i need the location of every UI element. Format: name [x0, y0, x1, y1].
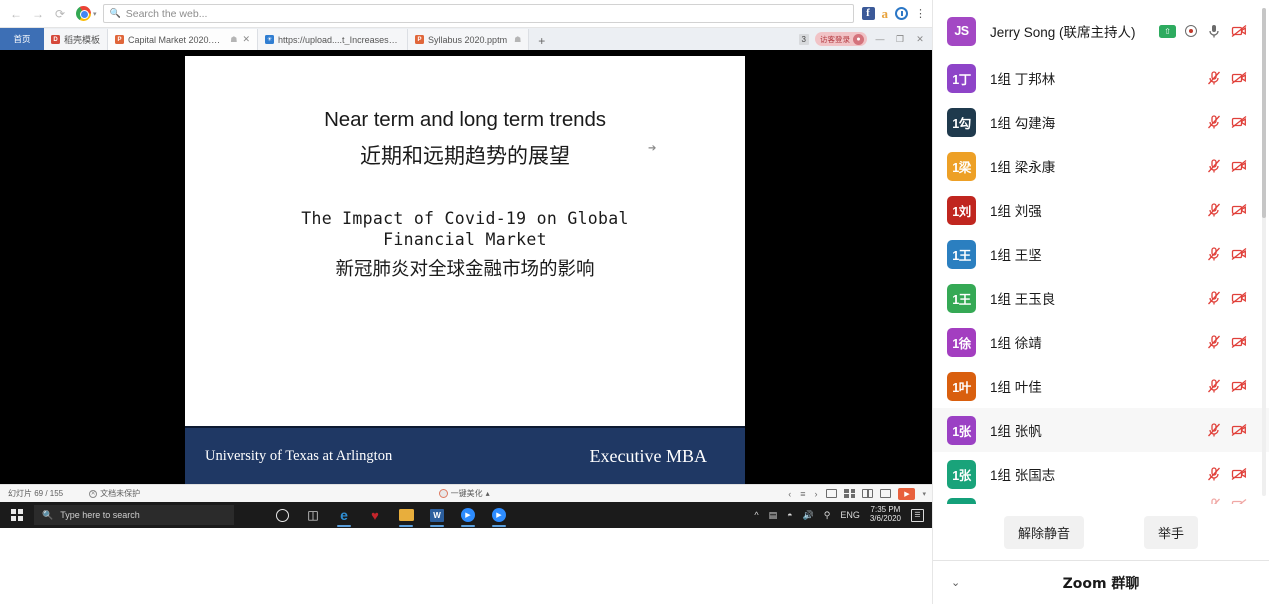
restore-button[interactable]: ❐	[893, 34, 907, 45]
participant-status-icons	[1206, 202, 1247, 218]
video-off-icon[interactable]	[1231, 70, 1247, 86]
language-indicator[interactable]: ENG	[840, 510, 860, 520]
list-item[interactable]: 1梁 1组 梁永康	[933, 144, 1269, 188]
participant-status-icons	[1206, 70, 1247, 86]
avatar: 1刘	[947, 196, 976, 225]
windows-taskbar: 🔍 Type here to search ◫ e ♥ W ▶ ▶ ^ ▤ ◓ …	[0, 502, 932, 528]
avatar: JS	[947, 17, 976, 46]
browser-menu-icon[interactable]: ⋮	[915, 10, 926, 18]
list-item[interactable]: 1刘 1组 刘强	[933, 188, 1269, 232]
mic-off-icon[interactable]	[1206, 378, 1222, 394]
list-item[interactable]: 1张 1组 张帆	[933, 408, 1269, 452]
list-item[interactable]: JS Jerry Song (联席主持人) ⇧	[933, 6, 1269, 56]
history-clock-icon[interactable]	[895, 7, 908, 20]
participant-name: 1组 叶佳	[990, 376, 1200, 396]
forward-arrow-icon[interactable]: →	[28, 4, 48, 24]
slide-subtitle-chinese: 新冠肺炎对全球金融市场的影响	[185, 255, 745, 281]
chevron-right-icon[interactable]: ›	[814, 489, 817, 499]
browser-toolbar-actions: f a ⋮	[862, 6, 927, 22]
mic-off-icon[interactable]	[1206, 290, 1222, 306]
record-badge	[1185, 25, 1197, 37]
screenshot-root: ← → ⟳ ▾ 🔍 Search the web... f a ⋮ 首页 D 稻…	[0, 0, 1269, 604]
participants-list[interactable]: JS Jerry Song (联席主持人) ⇧ 1丁 1组 丁邦林	[933, 0, 1269, 504]
participant-status-icons	[1206, 158, 1247, 174]
browser-address-bar[interactable]: 🔍 Search the web...	[103, 4, 854, 23]
list-item[interactable]: 1张 1组 张国志	[933, 452, 1269, 496]
mic-off-icon[interactable]	[1206, 70, 1222, 86]
avatar	[947, 498, 976, 504]
security-shield-icon[interactable]: ♥	[361, 502, 389, 528]
participant-name: 1组 梁永康	[990, 156, 1200, 176]
tab-home[interactable]: 首页	[0, 28, 44, 50]
participant-name: 1组 丁邦林	[990, 68, 1200, 88]
pin-tab-icon[interactable]: ☗	[514, 35, 521, 44]
list-item[interactable]: 1叶 1组 叶佳	[933, 364, 1269, 408]
show-hidden-icons-icon[interactable]: ^	[754, 510, 758, 520]
list-item[interactable]: 1徐 1组 徐靖	[933, 320, 1269, 364]
avatar: 1叶	[947, 372, 976, 401]
zoom-app-icon[interactable]: ▶	[454, 502, 482, 528]
tab-template-store[interactable]: D 稻壳模板	[44, 29, 108, 50]
vertical-scrollbar[interactable]	[1262, 8, 1266, 218]
file-explorer-icon[interactable]	[392, 502, 420, 528]
list-item[interactable]	[933, 496, 1269, 504]
minimize-button[interactable]: —	[873, 34, 887, 44]
avatar: 1梁	[947, 152, 976, 181]
task-view-icon[interactable]: ◫	[299, 502, 327, 528]
list-icon[interactable]: ≡	[800, 489, 805, 499]
participant-status-icons	[1206, 466, 1247, 482]
avatar: 1丁	[947, 64, 976, 93]
mic-off-icon[interactable]	[1206, 334, 1222, 350]
amazon-icon[interactable]: a	[882, 6, 889, 22]
new-tab-button[interactable]: +	[529, 32, 554, 50]
chrome-caret-icon[interactable]: ▾	[93, 10, 97, 18]
slide-text-block: Near term and long term trends 近期和远期趋势的展…	[185, 56, 745, 281]
normal-view-icon[interactable]	[826, 489, 837, 498]
tab-upload-png[interactable]: ☀ https://upload....t_Increases.png	[258, 29, 408, 50]
chrome-logo-icon[interactable]	[76, 6, 91, 21]
document-protection-status[interactable]: ✕ 文档未保护	[89, 488, 140, 499]
search-icon: 🔍	[42, 510, 53, 521]
tab-capital-market-pptx[interactable]: P Capital Market 2020.pptx ☗ ✕	[108, 29, 258, 50]
video-off-icon[interactable]	[1231, 422, 1247, 438]
search-input-placeholder: Search the web...	[126, 8, 208, 20]
slide-title-chinese: 近期和远期趋势的展望	[185, 140, 745, 170]
beautify-button[interactable]: 一键美化 ▴	[439, 488, 490, 499]
avatar: 1张	[947, 416, 976, 445]
ppt-file-icon: P	[115, 35, 124, 44]
circle-x-icon: ✕	[89, 490, 97, 498]
participant-name: 1组 勾建海	[990, 112, 1200, 132]
play-slideshow-icon[interactable]: ▶	[898, 488, 915, 500]
mic-off-icon[interactable]	[1206, 422, 1222, 438]
slide-nav-group: ‹ ≡ ›	[788, 489, 817, 499]
avatar: 1王	[947, 284, 976, 313]
back-arrow-icon[interactable]: ←	[6, 4, 26, 24]
volume-icon[interactable]: 🔊	[803, 510, 814, 521]
beautify-icon	[439, 489, 448, 498]
video-off-icon[interactable]	[1231, 378, 1247, 394]
slide-counter: 幻灯片 69 / 155	[8, 488, 63, 499]
search-icon: 🔍	[110, 8, 121, 19]
screen-bottom-filler	[0, 528, 932, 604]
participant-name: 1组 刘强	[990, 200, 1200, 220]
mic-off-icon[interactable]	[1206, 202, 1222, 218]
tab-count-badge[interactable]: 3	[799, 34, 809, 45]
mic-on-icon[interactable]	[1206, 23, 1222, 39]
battery-icon[interactable]: ▤	[769, 510, 778, 521]
pptm-file-icon: P	[415, 35, 424, 44]
slide-footer-bar: University of Texas at Arlington Executi…	[185, 426, 745, 484]
reload-icon[interactable]: ⟳	[50, 4, 70, 24]
mic-off-icon[interactable]	[1206, 158, 1222, 174]
pdf-file-icon: D	[51, 35, 60, 44]
list-item[interactable]: 1王 1组 王坚	[933, 232, 1269, 276]
raise-hand-button[interactable]: 举手	[1144, 516, 1198, 549]
participant-name: 1组 徐靖	[990, 332, 1200, 352]
mic-off-icon[interactable]	[1206, 466, 1222, 482]
participant-status-icons	[1206, 114, 1247, 130]
mouse-pointer-icon: ➔	[648, 143, 655, 154]
list-item[interactable]: 1王 1组 王玉良	[933, 276, 1269, 320]
participant-name: Jerry Song (联席主持人)	[990, 21, 1153, 41]
participant-status-icons	[1206, 246, 1247, 262]
zoom-participants-panel: JS Jerry Song (联席主持人) ⇧ 1丁 1组 丁邦林	[932, 0, 1269, 604]
chat-panel-header[interactable]: ⌄ Zoom 群聊	[933, 560, 1269, 604]
clock[interactable]: 7:35 PM 3/6/2020	[870, 506, 901, 524]
participant-status-icons	[1206, 290, 1247, 306]
powerpoint-status-bar: 幻灯片 69 / 155 ✕ 文档未保护 一键美化 ▴ ‹ ≡ ›	[0, 484, 932, 502]
facebook-icon[interactable]: f	[862, 7, 875, 20]
tab-syllabus-pptm[interactable]: P Syllabus 2020.pptm ☗	[408, 29, 529, 50]
mic-off-icon[interactable]	[1206, 497, 1222, 504]
avatar: 1王	[947, 240, 976, 269]
notifications-icon[interactable]: ☰	[911, 509, 924, 522]
zoom-meeting-icon[interactable]: ▶	[485, 502, 513, 528]
video-off-icon[interactable]	[1231, 497, 1247, 504]
edge-browser-icon[interactable]: e	[330, 502, 358, 528]
video-off-icon[interactable]	[1231, 246, 1247, 262]
slide-sorter-icon[interactable]	[844, 489, 855, 498]
participant-name: 1组 王坚	[990, 244, 1200, 264]
window-controls: 3 访客登录 ● — ❐ ✕	[799, 28, 932, 50]
video-off-icon[interactable]	[1231, 114, 1247, 130]
video-off-icon[interactable]	[1231, 23, 1247, 39]
cortana-circle-icon[interactable]	[268, 502, 296, 528]
close-window-button[interactable]: ✕	[913, 34, 927, 45]
image-file-icon: ☀	[265, 35, 274, 44]
slide-footer-university: University of Texas at Arlington	[205, 448, 392, 465]
video-off-icon[interactable]	[1231, 202, 1247, 218]
chat-panel-title: Zoom 群聊	[933, 573, 1269, 593]
share-screen-badge: ⇧	[1159, 25, 1176, 38]
participant-status-icons	[1206, 378, 1247, 394]
tab-label: 稻壳模板	[64, 33, 100, 46]
unmute-button[interactable]: 解除静音	[1004, 516, 1084, 549]
bluetooth-icon[interactable]: ⚲	[824, 510, 831, 521]
system-tray: ^ ▤ ◓ 🔊 ⚲ ENG 7:35 PM 3/6/2020 ☰	[754, 506, 932, 524]
avatar: 1勾	[947, 108, 976, 137]
beautify-label: 一键美化	[451, 488, 483, 499]
account-pill[interactable]: 访客登录 ●	[815, 32, 867, 46]
wifi-icon[interactable]: ◓	[787, 510, 792, 520]
windows-start-icon[interactable]	[0, 502, 34, 528]
participant-status-icons	[1206, 334, 1247, 350]
chevron-down-icon[interactable]: ⌄	[951, 576, 960, 589]
account-label: 访客登录	[820, 34, 850, 45]
taskbar-search-placeholder: Type here to search	[60, 510, 140, 520]
slide-subtitle-english-line1: The Impact of Covid-19 on Global	[185, 208, 745, 229]
slide-title-english: Near term and long term trends	[185, 108, 745, 132]
participant-actions-bar: 解除静音 举手	[933, 504, 1269, 560]
video-off-icon[interactable]	[1231, 158, 1247, 174]
browser-toolbar: ← → ⟳ ▾ 🔍 Search the web... f a ⋮	[0, 0, 932, 28]
document-protection-label: 文档未保护	[100, 488, 140, 499]
beautify-caret-icon: ▴	[486, 489, 490, 498]
status-bar-view-controls: ‹ ≡ › ▶ ▾	[788, 488, 932, 500]
pin-tab-icon[interactable]: ☗	[230, 35, 237, 44]
participant-status-icons	[1206, 422, 1247, 438]
list-item[interactable]: 1丁 1组 丁邦林	[933, 56, 1269, 100]
avatar: ●	[853, 34, 864, 45]
avatar: 1张	[947, 460, 976, 489]
taskbar-app-icons: ◫ e ♥ W ▶ ▶	[268, 502, 513, 528]
slideshow-stage: Near term and long term trends 近期和远期趋势的展…	[0, 50, 932, 484]
clock-date: 3/6/2020	[870, 515, 901, 524]
participant-name: 1组 王玉良	[990, 288, 1200, 308]
participant-status-icons: ⇧	[1159, 23, 1247, 39]
participant-name: 1组 张国志	[990, 464, 1200, 484]
slide-footer-program: Executive MBA	[590, 446, 707, 467]
wps-tab-strip: 首页 D 稻壳模板 P Capital Market 2020.pptx ☗ ✕…	[0, 28, 932, 50]
notes-view-icon[interactable]	[880, 489, 891, 498]
tab-label: https://upload....t_Increases.png	[278, 35, 400, 45]
list-item[interactable]: 1勾 1组 勾建海	[933, 100, 1269, 144]
close-tab-icon[interactable]: ✕	[242, 34, 250, 45]
shared-screen-region: ← → ⟳ ▾ 🔍 Search the web... f a ⋮ 首页 D 稻…	[0, 0, 932, 604]
presentation-slide: Near term and long term trends 近期和远期趋势的展…	[185, 56, 745, 484]
participant-name: 1组 张帆	[990, 420, 1200, 440]
slide-subtitle-english-line2: Financial Market	[185, 229, 745, 250]
video-off-icon[interactable]	[1231, 466, 1247, 482]
play-caret-icon[interactable]: ▾	[922, 490, 926, 498]
mic-off-icon[interactable]	[1206, 114, 1222, 130]
avatar: 1徐	[947, 328, 976, 357]
video-off-icon[interactable]	[1231, 334, 1247, 350]
chevron-left-icon[interactable]: ‹	[788, 489, 791, 499]
slide-subtitle-english: The Impact of Covid-19 on Global Financi…	[185, 208, 745, 250]
wps-writer-icon[interactable]: W	[423, 502, 451, 528]
participant-status-icons	[1206, 497, 1247, 504]
tab-label: Capital Market 2020.pptx	[128, 35, 223, 45]
mic-off-icon[interactable]	[1206, 246, 1222, 262]
taskbar-search-input[interactable]: 🔍 Type here to search	[34, 505, 234, 525]
view-mode-group: ▶ ▾	[826, 488, 926, 500]
tab-label: Syllabus 2020.pptm	[428, 35, 507, 45]
reading-view-icon[interactable]	[862, 489, 873, 498]
video-off-icon[interactable]	[1231, 290, 1247, 306]
